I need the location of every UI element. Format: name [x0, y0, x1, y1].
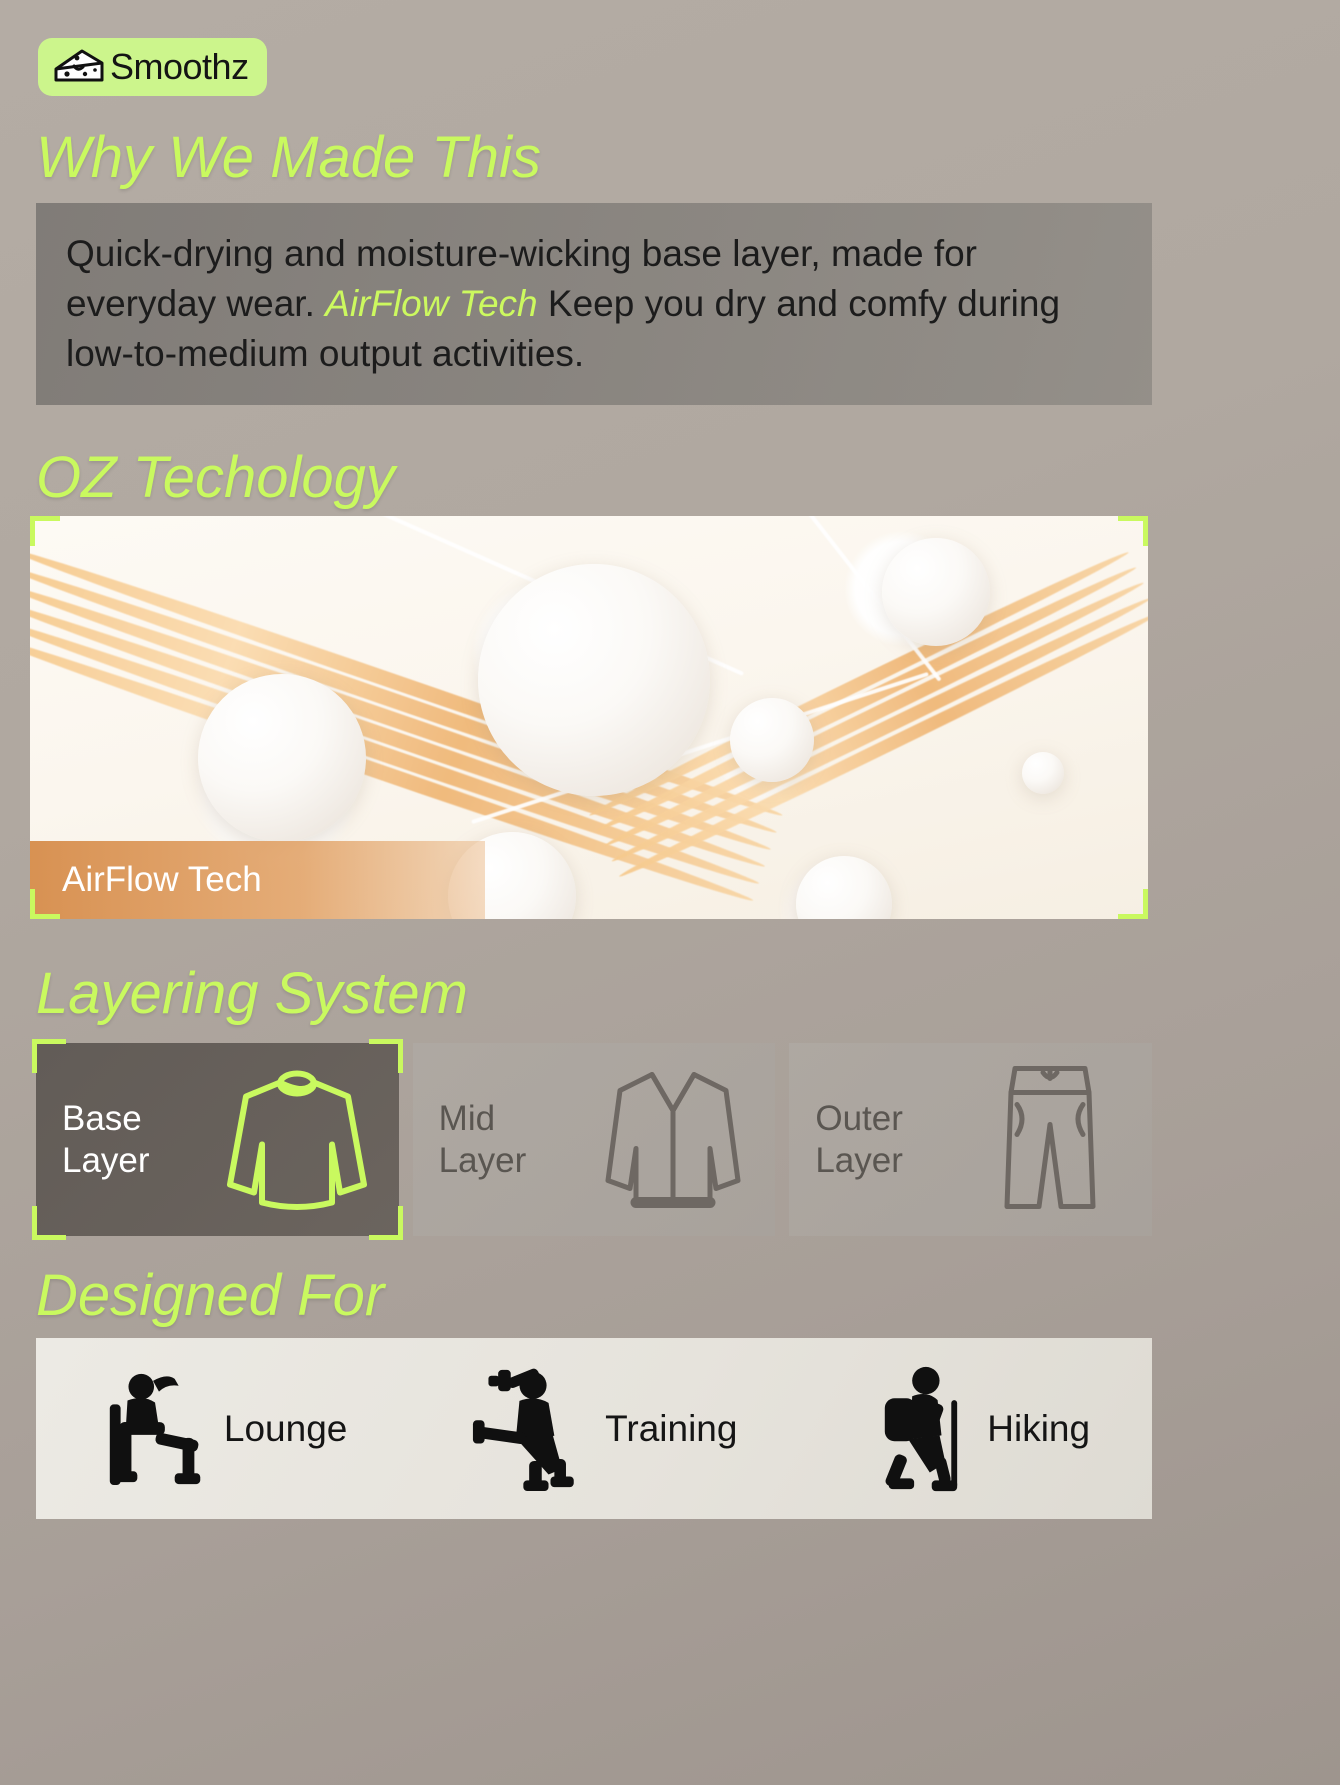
- layer-card-mid-label: Mid Layer: [439, 1098, 527, 1181]
- technology-caption-label: AirFlow Tech: [30, 860, 262, 900]
- section-heading-layering: Layering System: [36, 960, 468, 1027]
- moisture-sphere: [198, 674, 366, 842]
- intro-panel: Quick-drying and moisture-wicking base l…: [36, 203, 1152, 405]
- moisture-sphere: [478, 564, 710, 796]
- layering-card-row: Base Layer: [36, 1043, 1152, 1236]
- brand-name: Smoothz: [110, 49, 249, 85]
- designed-for-strip: Lounge: [36, 1338, 1152, 1519]
- activity-label-hiking: Hiking: [987, 1408, 1090, 1450]
- brand-logo[interactable]: Smoothz: [38, 38, 267, 96]
- technology-image-block: AirFlow Tech: [30, 516, 1148, 919]
- long-sleeve-shirt-icon: [210, 1052, 385, 1227]
- layer-card-outer[interactable]: Outer Layer: [789, 1043, 1152, 1236]
- cheese-wedge-icon: [52, 47, 106, 87]
- moisture-sphere: [730, 698, 814, 782]
- section-heading-technology: OZ Techology: [36, 444, 395, 511]
- person-lounging-icon: [98, 1365, 216, 1493]
- corner-bracket-bottom-left: [32, 1206, 66, 1240]
- moisture-sphere: [882, 538, 990, 646]
- pants-icon: [963, 1052, 1138, 1227]
- section-heading-designed-for: Designed For: [36, 1262, 384, 1329]
- person-lifting-weight-icon: [471, 1366, 597, 1492]
- person-hiking-icon: [861, 1363, 979, 1495]
- activity-item-training[interactable]: Training: [471, 1366, 737, 1492]
- corner-bracket-top-left: [32, 1039, 66, 1073]
- layer-card-outer-label: Outer Layer: [815, 1098, 903, 1181]
- intro-paragraph: Quick-drying and moisture-wicking base l…: [36, 229, 1152, 379]
- activity-label-training: Training: [605, 1408, 737, 1450]
- jacket-icon: [586, 1052, 761, 1227]
- layer-card-mid[interactable]: Mid Layer: [413, 1043, 776, 1236]
- section-heading-why: Why We Made This: [36, 124, 541, 191]
- layer-card-base[interactable]: Base Layer: [36, 1043, 399, 1236]
- moisture-sphere: [1022, 752, 1064, 794]
- activity-label-lounge: Lounge: [224, 1408, 347, 1450]
- technology-image-caption: AirFlow Tech: [30, 841, 485, 919]
- intro-highlight-airflow-tech: AirFlow Tech: [325, 283, 537, 324]
- activity-item-lounge[interactable]: Lounge: [98, 1365, 347, 1493]
- infographic-page: Smoothz Why We Made This Quick-drying an…: [0, 0, 1340, 1785]
- activity-item-hiking[interactable]: Hiking: [861, 1363, 1090, 1495]
- layer-card-base-label: Base Layer: [62, 1098, 150, 1181]
